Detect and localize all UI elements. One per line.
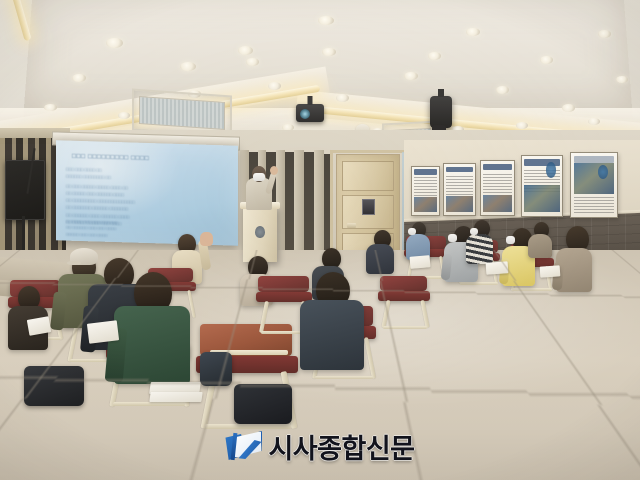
downlight bbox=[428, 52, 441, 60]
downlight bbox=[516, 122, 528, 129]
downlight bbox=[246, 58, 259, 66]
downlight bbox=[588, 118, 600, 125]
handout-papers bbox=[486, 261, 509, 275]
handout-papers bbox=[540, 265, 561, 277]
speaking-podium bbox=[243, 206, 277, 262]
downlight bbox=[466, 28, 480, 36]
room-sign bbox=[362, 199, 375, 215]
wall-recess bbox=[285, 152, 294, 254]
downlight bbox=[496, 86, 509, 94]
folding-chair bbox=[378, 276, 432, 332]
downlight bbox=[598, 30, 611, 38]
handout-papers bbox=[87, 320, 119, 344]
downlight bbox=[562, 104, 575, 112]
door-handle[interactable] bbox=[347, 223, 356, 228]
watermark: 시사종합신문 bbox=[0, 427, 640, 466]
downlight bbox=[44, 104, 57, 111]
face-mask-icon bbox=[408, 228, 416, 235]
face-mask-icon bbox=[448, 234, 457, 242]
downlight bbox=[268, 82, 281, 90]
downlight bbox=[72, 74, 86, 82]
door-panel bbox=[342, 161, 394, 191]
backpack bbox=[24, 366, 84, 406]
wall-display-frame bbox=[570, 152, 618, 218]
downlight bbox=[322, 48, 336, 56]
downlight bbox=[540, 56, 553, 64]
wall-display-frame bbox=[411, 166, 440, 216]
downlight bbox=[180, 62, 196, 71]
downlight bbox=[336, 94, 349, 102]
handbag bbox=[234, 384, 292, 424]
wall-display-frame bbox=[443, 163, 476, 216]
raised-hand-icon bbox=[200, 232, 213, 246]
downlight bbox=[404, 72, 418, 80]
projection-screen: □□□ □□□□□□□□□ □□□□ □□□ □□□ □□□□ □□ □□□□□… bbox=[56, 140, 238, 245]
downlight bbox=[106, 38, 123, 48]
ceiling-camera-rig-icon bbox=[430, 96, 452, 128]
face-mask-icon bbox=[506, 236, 515, 244]
wall-pilaster bbox=[314, 150, 324, 256]
face-mask-icon bbox=[470, 228, 478, 235]
attendee-torso bbox=[300, 300, 364, 370]
downlight bbox=[318, 16, 334, 25]
wall-display-frame bbox=[480, 160, 515, 216]
watermark-text: 시사종합신문 bbox=[268, 427, 414, 466]
stacked-handouts bbox=[149, 392, 202, 402]
seminar-photograph: □□□ □□□□□□□□□ □□□□ □□□ □□□ □□□□ □□ □□□□□… bbox=[0, 0, 640, 480]
open-book-logo-icon bbox=[225, 431, 261, 462]
cap-icon bbox=[70, 248, 98, 265]
attendee-torso bbox=[366, 244, 394, 274]
wall-pilaster bbox=[294, 150, 304, 256]
institution-crest-icon bbox=[255, 226, 265, 238]
attendee-torso bbox=[466, 234, 493, 264]
wall-display-frame bbox=[521, 155, 563, 217]
attendee-torso bbox=[528, 234, 552, 258]
ceiling-projector-icon bbox=[296, 104, 324, 122]
downlight bbox=[238, 46, 253, 55]
handout-papers bbox=[410, 255, 431, 269]
pa-speaker-icon bbox=[5, 160, 45, 220]
shoulder-bag bbox=[200, 352, 232, 386]
wall-recess bbox=[304, 152, 314, 254]
face-mask-icon bbox=[253, 173, 265, 181]
downlight bbox=[118, 112, 130, 119]
downlight bbox=[616, 76, 628, 83]
presenter-hand bbox=[270, 166, 278, 175]
